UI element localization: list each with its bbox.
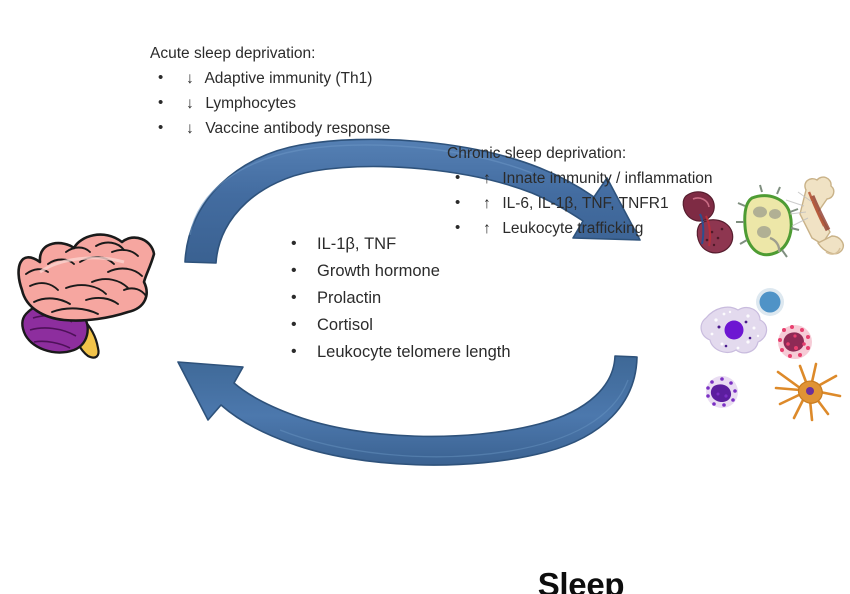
list-item-text: Adaptive immunity (Th1) [204,70,372,87]
node-label-sleep: Sleep [156,565,850,594]
bullet-glyph: • [291,257,297,284]
immune-to-sleep-arrow [178,356,637,465]
down-arrow-glyph: ↓ [186,91,201,116]
bullet-glyph: • [455,165,460,190]
list-item: • ↓ Adaptive immunity (Th1) [150,66,850,91]
down-arrow-glyph: ↓ [186,66,201,91]
list-item-text: Vaccine antibody response [205,120,390,137]
chronic-sleep-deprivation-block: Chronic sleep deprivation: • ↑ Innate im… [447,141,850,241]
chronic-block-title: Chronic sleep deprivation: [447,141,850,166]
list-item: • ↓ Vaccine antibody response [150,116,850,141]
list-item-text: Cortisol [317,316,373,334]
list-item: • Cortisol [286,312,511,339]
diagram-canvas: Acute sleep deprivation: • ↓ Adaptive im… [0,0,850,594]
list-item-text: Prolactin [317,289,381,307]
bullet-glyph: • [291,311,297,338]
bullet-glyph: • [455,190,460,215]
bullet-glyph: • [291,284,297,311]
down-arrow-glyph: ↓ [186,116,201,141]
up-arrow-glyph: ↑ [483,166,498,191]
list-item: • Leukocyte telomere length [286,339,511,366]
bullet-glyph: • [158,90,163,115]
list-item-text: IL-1β, TNF [317,235,396,253]
chronic-block-list: • ↑ Innate immunity / inflammation • ↑ I… [447,166,850,241]
list-item-text: Leukocyte telomere length [317,343,511,361]
list-item: • ↓ Lymphocytes [150,91,850,116]
list-item-text: IL-6, IL-1β, TNF, TNFR1 [502,195,668,212]
list-item: • Growth hormone [286,258,511,285]
up-arrow-glyph: ↑ [483,191,498,216]
bullet-glyph: • [291,338,297,365]
list-item: • ↑ Innate immunity / inflammation [447,166,850,191]
list-item-text: Lymphocytes [205,95,296,112]
acute-sleep-deprivation-block: Acute sleep deprivation: • ↓ Adaptive im… [150,41,850,141]
bullet-glyph: • [291,230,297,257]
shared-mediators-block: • IL-1β, TNF • Growth hormone • Prolacti… [286,231,511,366]
bullet-glyph: • [158,65,163,90]
list-item: • Prolactin [286,285,511,312]
list-item-text: Innate immunity / inflammation [502,170,712,187]
list-item: • ↑ IL-6, IL-1β, TNF, TNFR1 [447,191,850,216]
bullet-glyph: • [158,115,163,140]
list-item-text: Leukocyte trafficking [502,220,643,237]
acute-block-title: Acute sleep deprivation: [150,41,850,66]
list-item: • IL-1β, TNF [286,231,511,258]
acute-block-list: • ↓ Adaptive immunity (Th1) • ↓ Lymphocy… [150,66,850,141]
list-item-text: Growth hormone [317,262,440,280]
shared-mediators-list: • IL-1β, TNF • Growth hormone • Prolacti… [286,231,511,366]
